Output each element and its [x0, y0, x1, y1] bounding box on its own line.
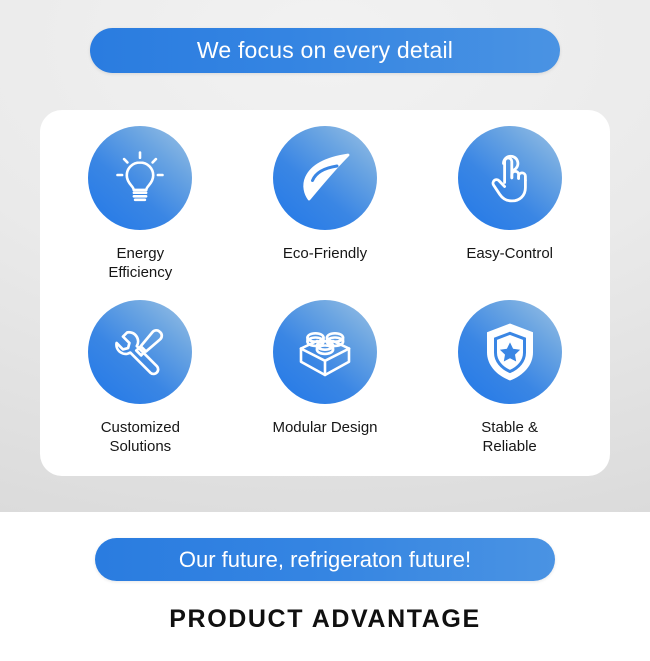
feature-label: Energy Efficiency: [108, 244, 172, 282]
icon-circle: [273, 300, 377, 404]
product-advantage-banner: We focus on every detail: [0, 0, 650, 661]
feature-item-easy-control[interactable]: Easy-Control: [417, 122, 602, 296]
gray-background-panel: We focus on every detail: [0, 0, 650, 512]
slogan-banner: Our future, refrigeraton future!: [95, 538, 555, 581]
leaf-icon: [291, 144, 359, 212]
slogan-text: Our future, refrigeraton future!: [179, 547, 471, 573]
feature-card: Energy Efficiency Eco-Friendly: [40, 110, 610, 476]
feature-grid: Energy Efficiency Eco-Friendly: [40, 110, 610, 476]
tools-icon: [107, 319, 173, 385]
product-title: PRODUCT ADVANTAGE: [0, 605, 650, 634]
lightbulb-icon: [107, 145, 173, 211]
footer-area: Our future, refrigeraton future! PRODUCT…: [0, 512, 650, 661]
tap-hand-icon: [478, 146, 542, 210]
feature-label: Easy-Control: [466, 244, 553, 263]
headline-banner: We focus on every detail: [90, 28, 560, 73]
shield-star-icon: [479, 319, 541, 385]
icon-circle: [458, 126, 562, 230]
icon-circle: [273, 126, 377, 230]
feature-label: Modular Design: [272, 418, 377, 437]
feature-item-eco-friendly[interactable]: Eco-Friendly: [233, 122, 418, 296]
feature-item-customized-solutions[interactable]: Customized Solutions: [48, 296, 233, 470]
icon-circle: [88, 126, 192, 230]
headline-text: We focus on every detail: [197, 37, 453, 64]
icon-circle: [458, 300, 562, 404]
icon-circle: [88, 300, 192, 404]
feature-label: Stable & Reliable: [481, 418, 538, 456]
feature-label: Customized Solutions: [101, 418, 180, 456]
feature-item-energy-efficiency[interactable]: Energy Efficiency: [48, 122, 233, 296]
feature-label: Eco-Friendly: [283, 244, 367, 263]
feature-item-stable-reliable[interactable]: Stable & Reliable: [417, 296, 602, 470]
lego-brick-icon: [291, 321, 359, 383]
feature-item-modular-design[interactable]: Modular Design: [233, 296, 418, 470]
